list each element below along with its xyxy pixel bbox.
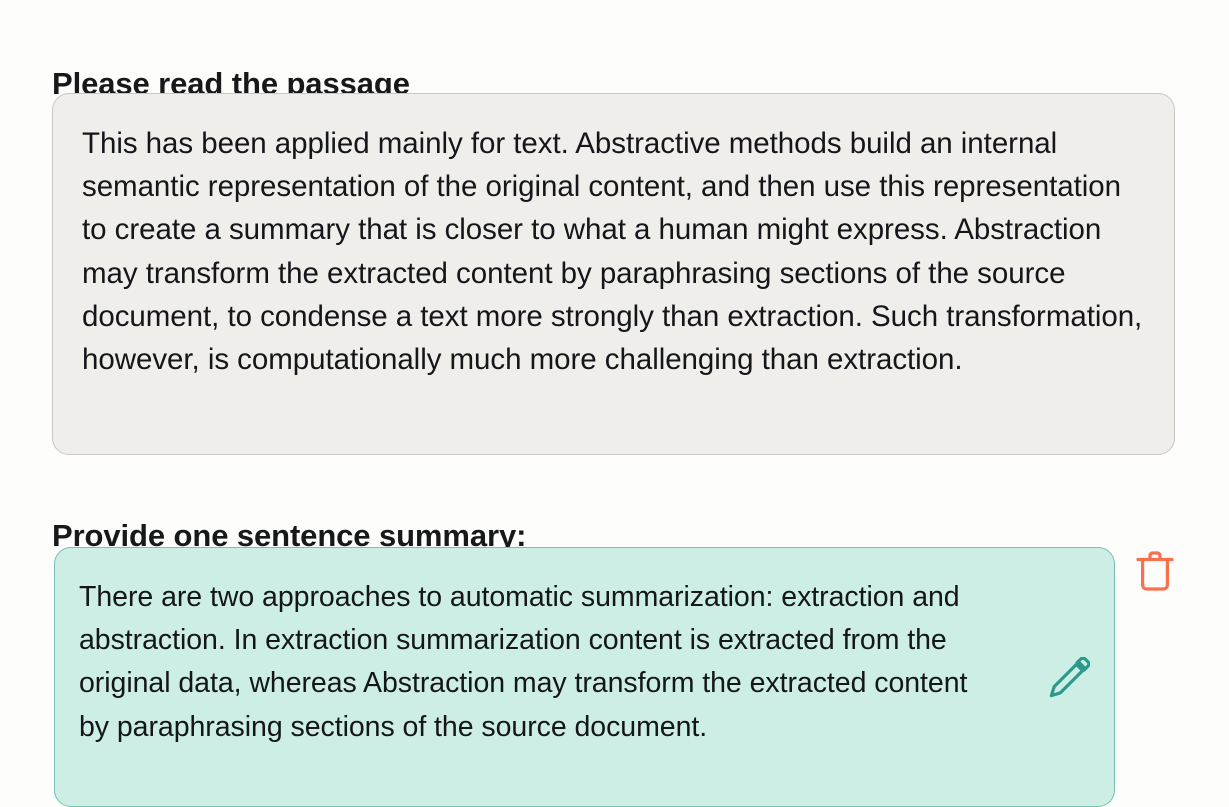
summary-input-card[interactable]: There are two approaches to automatic su… (54, 547, 1115, 807)
delete-summary-button[interactable] (1135, 550, 1175, 592)
summary-text[interactable]: There are two approaches to automatic su… (79, 576, 994, 749)
passage-text: This has been applied mainly for text. A… (82, 122, 1152, 381)
pencil-icon (1048, 657, 1090, 699)
task-page: Please read the passage This has been ap… (0, 0, 1229, 756)
trash-icon (1135, 550, 1175, 592)
edit-summary-button[interactable] (1048, 657, 1090, 699)
passage-card: This has been applied mainly for text. A… (52, 93, 1175, 455)
